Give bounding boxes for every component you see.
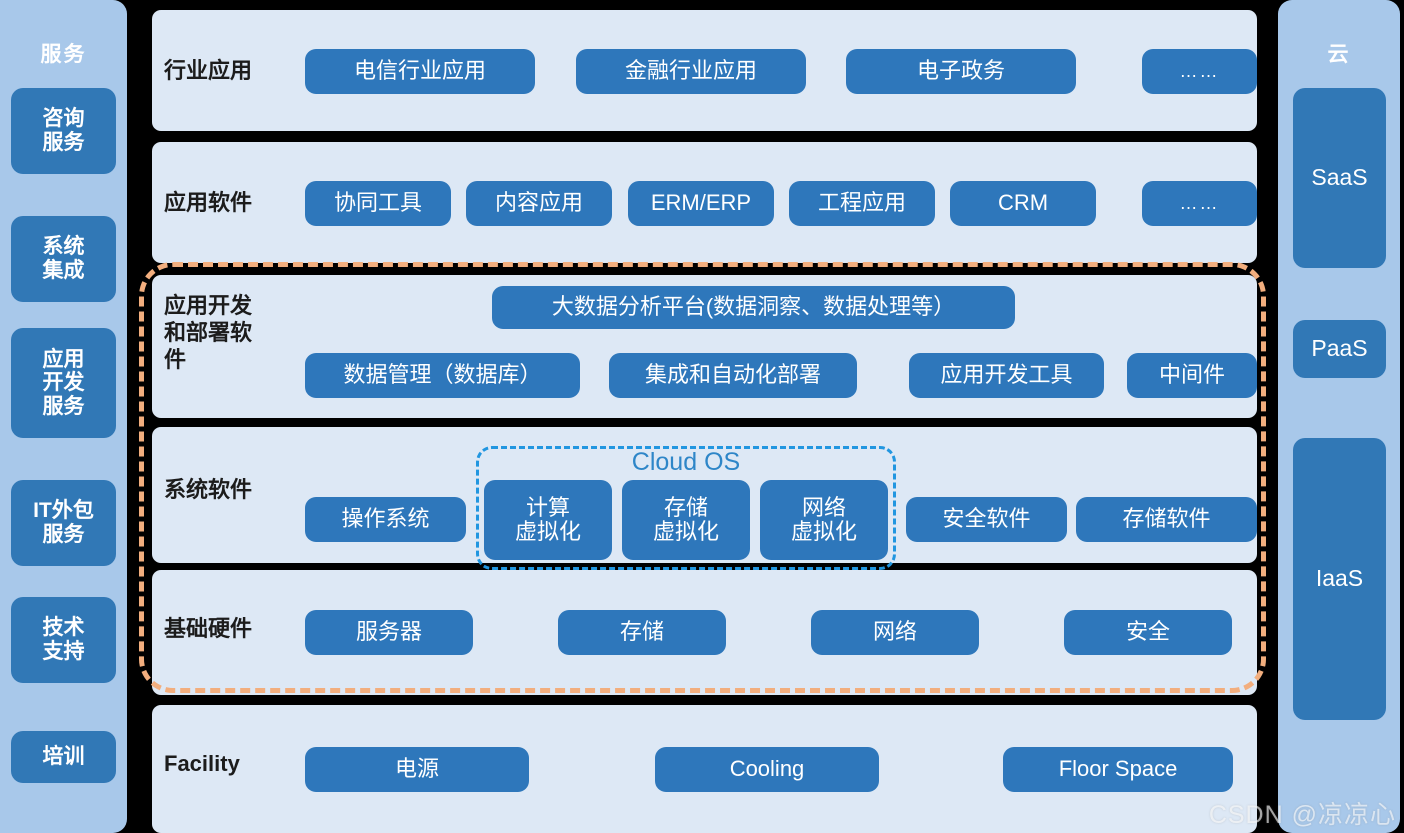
service-item-label: 培训 — [43, 745, 85, 769]
chip-label: 存储 — [620, 620, 664, 644]
layer-app-dev-deploy-software: 应用开发 和部署软 件大数据分析平台(数据洞察、数据处理等）数据管理（数据库）集… — [152, 275, 1257, 418]
chip-big-data-analytics-platform[interactable]: 大数据分析平台(数据洞察、数据处理等） — [492, 286, 1015, 329]
service-item-1[interactable]: 系统 集成 — [11, 216, 116, 302]
chip-data-management-database[interactable]: 数据管理（数据库） — [305, 353, 580, 398]
service-item-2[interactable]: 应用 开发 服务 — [11, 328, 116, 438]
cloud-column: 云 SaaSPaaSIaaS — [1278, 0, 1400, 833]
service-item-5[interactable]: 培训 — [11, 731, 116, 783]
layer-label-app-dev-deploy-software: 应用开发 和部署软 件 — [164, 293, 252, 373]
chip-telecom-industry-app[interactable]: 电信行业应用 — [305, 49, 535, 94]
chip-label: 安全软件 — [942, 507, 1030, 531]
chip-label: 操作系统 — [341, 507, 429, 531]
chip-power[interactable]: 电源 — [305, 747, 529, 792]
layer-label-system-software: 系统软件 — [164, 477, 252, 504]
chip-cooling[interactable]: Cooling — [655, 747, 879, 792]
chip-label: 金融行业应用 — [625, 59, 757, 83]
chip-label: Cooling — [730, 757, 805, 781]
layer-application-software: 应用软件协同工具内容应用ERM/ERP工程应用CRM…… — [152, 142, 1257, 263]
chip-network[interactable]: 网络 — [811, 610, 979, 655]
service-item-3[interactable]: IT外包 服务 — [11, 480, 116, 566]
cloud-item-1[interactable]: PaaS — [1293, 320, 1386, 378]
chip-label: 集成和自动化部署 — [645, 363, 821, 387]
architecture-diagram-canvas: 服务 咨询 服务系统 集成应用 开发 服务IT外包 服务技术 支持培训 云 Sa… — [0, 0, 1404, 833]
chip-label: 协同工具 — [334, 191, 422, 215]
chip-finance-industry-app[interactable]: 金融行业应用 — [576, 49, 806, 94]
chip-label: 工程应用 — [818, 191, 906, 215]
layer-facility: Facility电源CoolingFloor Space — [152, 705, 1257, 833]
chip-more-app-software[interactable]: …… — [1142, 181, 1257, 226]
layer-system-software: 系统软件操作系统计算 虚拟化存储 虚拟化网络 虚拟化安全软件存储软件 — [152, 427, 1257, 563]
layer-label-industry-applications: 行业应用 — [164, 58, 252, 85]
chip-content-applications[interactable]: 内容应用 — [466, 181, 612, 226]
service-item-4[interactable]: 技术 支持 — [11, 597, 116, 683]
chip-compute-virtualization[interactable]: 计算 虚拟化 — [484, 480, 612, 560]
chip-security[interactable]: 安全 — [1064, 610, 1232, 655]
chip-network-virtualization[interactable]: 网络 虚拟化 — [760, 480, 888, 560]
chip-label: 中间件 — [1159, 363, 1225, 387]
chip-more-industry-apps[interactable]: …… — [1142, 49, 1257, 94]
chip-label: 电源 — [395, 757, 439, 781]
chip-label: 应用开发工具 — [940, 363, 1072, 387]
chip-crm[interactable]: CRM — [950, 181, 1096, 226]
cloud-item-label: IaaS — [1316, 566, 1363, 592]
service-item-label: 系统 集成 — [43, 235, 85, 282]
chip-erm-erp[interactable]: ERM/ERP — [628, 181, 774, 226]
chip-floor-space[interactable]: Floor Space — [1003, 747, 1233, 792]
chip-label: 电子政务 — [917, 59, 1005, 83]
chip-storage-software[interactable]: 存储软件 — [1076, 497, 1257, 542]
chip-label: ERM/ERP — [651, 191, 751, 215]
service-item-0[interactable]: 咨询 服务 — [11, 88, 116, 174]
chip-label: 网络 虚拟化 — [791, 496, 857, 544]
chip-label: 计算 虚拟化 — [515, 496, 581, 544]
service-item-label: 技术 支持 — [43, 616, 85, 663]
chip-label: Floor Space — [1059, 757, 1178, 781]
chip-label: …… — [1180, 62, 1220, 82]
chip-e-government[interactable]: 电子政务 — [846, 49, 1076, 94]
services-column-title: 服务 — [0, 38, 127, 68]
chip-servers[interactable]: 服务器 — [305, 610, 473, 655]
chip-label: 网络 — [873, 620, 917, 644]
chip-label: 安全 — [1126, 620, 1170, 644]
service-item-label: 应用 开发 服务 — [43, 348, 85, 419]
service-item-label: 咨询 服务 — [43, 107, 85, 154]
chip-storage-virtualization[interactable]: 存储 虚拟化 — [622, 480, 750, 560]
chip-integration-automation[interactable]: 集成和自动化部署 — [609, 353, 857, 398]
layer-label-basic-hardware: 基础硬件 — [164, 616, 252, 643]
chip-security-software[interactable]: 安全软件 — [906, 497, 1067, 542]
chip-app-dev-tools[interactable]: 应用开发工具 — [909, 353, 1104, 398]
cloud-column-title: 云 — [1278, 38, 1400, 68]
chip-collaboration-tools[interactable]: 协同工具 — [305, 181, 451, 226]
chip-label: 服务器 — [356, 620, 422, 644]
chip-operating-system[interactable]: 操作系统 — [305, 497, 466, 542]
chip-label: 电信行业应用 — [354, 59, 486, 83]
chip-label: 大数据分析平台(数据洞察、数据处理等） — [552, 295, 955, 319]
chip-middleware[interactable]: 中间件 — [1127, 353, 1257, 398]
cloud-item-label: PaaS — [1311, 336, 1367, 362]
layer-label-facility: Facility — [164, 751, 240, 778]
chip-label: 内容应用 — [495, 191, 583, 215]
chip-storage[interactable]: 存储 — [558, 610, 726, 655]
layer-basic-hardware: 基础硬件服务器存储网络安全 — [152, 570, 1257, 695]
chip-label: 存储 虚拟化 — [653, 496, 719, 544]
chip-engineering-apps[interactable]: 工程应用 — [789, 181, 935, 226]
layer-industry-applications: 行业应用电信行业应用金融行业应用电子政务…… — [152, 10, 1257, 131]
cloud-item-2[interactable]: IaaS — [1293, 438, 1386, 720]
chip-label: 存储软件 — [1122, 507, 1210, 531]
cloud-item-0[interactable]: SaaS — [1293, 88, 1386, 268]
service-item-label: IT外包 服务 — [33, 499, 94, 546]
cloud-item-label: SaaS — [1311, 165, 1367, 191]
chip-label: CRM — [998, 191, 1048, 215]
chip-label: …… — [1180, 194, 1220, 214]
layer-label-application-software: 应用软件 — [164, 190, 252, 217]
chip-label: 数据管理（数据库） — [343, 363, 541, 387]
services-column: 服务 咨询 服务系统 集成应用 开发 服务IT外包 服务技术 支持培训 — [0, 0, 127, 833]
